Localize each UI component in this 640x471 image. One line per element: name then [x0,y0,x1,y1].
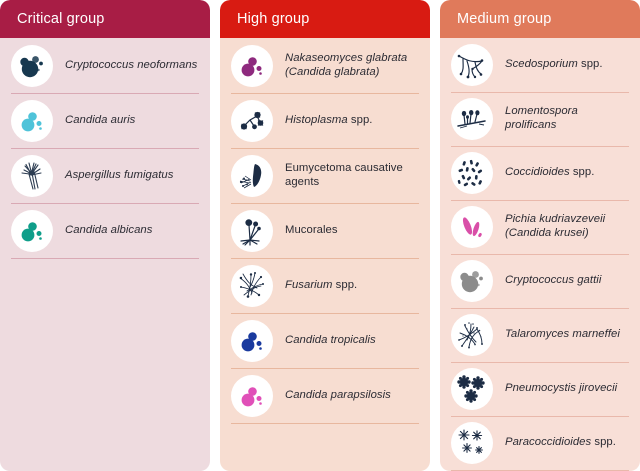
pathogen-name: Eumycetoma causative agents [285,162,419,189]
pathogen-row[interactable]: Scedosporium spp. [440,38,640,92]
fungal-priority-pathogen-board: Critical groupCryptococcus neoformansCan… [0,0,640,471]
pathogen-name: Candida auris [65,114,135,128]
pathogen-name: Nakaseomyces glabrata (Candida glabrata) [285,52,419,79]
pathogen-row[interactable]: Paracoccidioides spp. [440,416,640,470]
column-filler [0,259,210,471]
pathogen-list-critical: Cryptococcus neoformansCandida aurisAspe… [0,38,210,471]
column-filler [220,424,430,471]
pathogen-name: Candida parapsilosis [285,389,391,403]
candida-budding-icon [11,210,53,252]
pathogen-list-high: Nakaseomyces glabrata (Candida glabrata)… [220,38,430,471]
cryptococcus-blob-icon [11,45,53,87]
pathogen-name: Cryptococcus gattii [505,274,601,288]
pathogen-name: Candida tropicalis [285,334,376,348]
column-header-medium: Medium group [440,0,640,38]
pathogen-row[interactable]: Nakaseomyces glabrata (Candida glabrata) [220,38,430,93]
pathogen-row[interactable]: Eumycetoma causative agents [220,148,430,203]
pneumocystis-cyst-icon [451,368,493,410]
pathogen-name: Aspergillus fumigatus [65,169,173,183]
pathogen-name: Talaromyces marneffei [505,328,620,342]
paracoccidioides-star-icon [451,422,493,464]
lomentospora-conidia-icon [451,98,493,140]
pathogen-name: Mucorales [285,224,338,238]
column-title: High group [237,11,309,27]
pathogen-row[interactable]: Aspergillus fumigatus [0,148,210,203]
priority-column-medium: Medium groupScedosporium spp.Lomentospor… [440,0,640,471]
pathogen-row[interactable]: Candida auris [0,93,210,148]
pathogen-row[interactable]: Cryptococcus gattii [440,254,640,308]
pathogen-row[interactable]: Pichia kudriavzeveii (Candida krusei) [440,200,640,254]
candida-budding-icon [11,100,53,142]
column-title: Critical group [17,11,105,27]
pichia-elongated-icon [451,206,493,248]
pathogen-name: Cryptococcus neoformans [65,59,197,73]
scedosporium-hyphae-icon [451,44,493,86]
pathogen-row[interactable]: Histoplasma spp. [220,93,430,148]
pathogen-name: Histoplasma spp. [285,114,372,128]
column-title: Medium group [457,11,552,27]
pathogen-row[interactable]: Mucorales [220,203,430,258]
pathogen-row[interactable]: Pneumocystis jirovecii [440,362,640,416]
candida-budding-icon [231,375,273,417]
aspergillus-conidiophore-icon [11,155,53,197]
candida-budding-icon [231,320,273,362]
candida-budding-icon [231,45,273,87]
pathogen-row[interactable]: Candida tropicalis [220,313,430,368]
cryptococcus-blob-icon [451,260,493,302]
coccidioides-arthroconidia-icon [451,152,493,194]
pathogen-row[interactable]: Candida albicans [0,203,210,258]
pathogen-name: Pichia kudriavzeveii (Candida krusei) [505,213,629,240]
pathogen-name: Pneumocystis jirovecii [505,382,617,396]
pathogen-name: Candida albicans [65,224,152,238]
eumycetoma-grain-icon [231,155,273,197]
mucorales-sporangium-icon [231,210,273,252]
column-header-high: High group [220,0,430,38]
pathogen-row[interactable]: Fusarium spp. [220,258,430,313]
fusarium-mycelium-icon [231,265,273,307]
priority-column-high: High groupNakaseomyces glabrata (Candida… [220,0,430,471]
pathogen-name: Scedosporium spp. [505,58,603,72]
pathogen-name: Coccidioides spp. [505,166,594,180]
pathogen-name: Paracoccidioides spp. [505,436,616,450]
pathogen-row[interactable]: Talaromyces marneffei [440,308,640,362]
pathogen-row[interactable]: Candida parapsilosis [220,368,430,423]
pathogen-name: Fusarium spp. [285,279,357,293]
pathogen-row[interactable]: Cryptococcus neoformans [0,38,210,93]
column-header-critical: Critical group [0,0,210,38]
priority-column-critical: Critical groupCryptococcus neoformansCan… [0,0,210,471]
histoplasma-hyphae-icon [231,100,273,142]
talaromyces-hyphae-icon [451,314,493,356]
pathogen-name: Lomentospora prolificans [505,105,629,132]
pathogen-row[interactable]: Lomentospora prolificans [440,92,640,146]
pathogen-row[interactable]: Coccidioides spp. [440,146,640,200]
pathogen-list-medium: Scedosporium spp.Lomentospora prolifican… [440,38,640,471]
